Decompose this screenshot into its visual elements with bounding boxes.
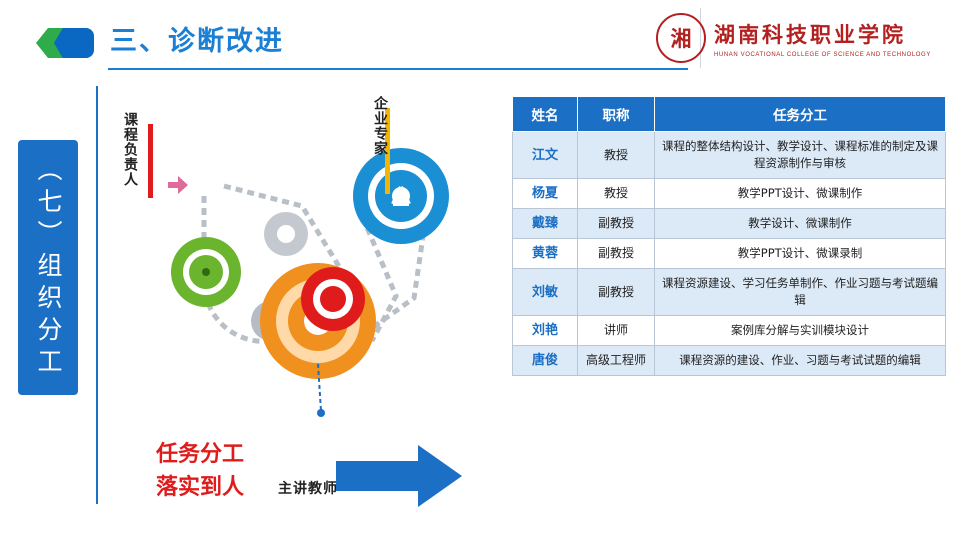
table-row: 杨夏 教授 教学PPT设计、微课制作: [513, 179, 946, 209]
school-name-block: 湖南科技职业学院 HUNAN VOCATIONAL COLLEGE OF SCI…: [714, 19, 931, 58]
task-callout: 任务分工 落实到人: [156, 438, 244, 504]
label-lead-teacher: 主讲教师: [278, 478, 338, 498]
page-header: 三、诊断改进 湘 湖南科技职业学院 HUNAN VOCATIONAL COLLE…: [0, 0, 960, 76]
section-side-label: （七）组织分工: [18, 140, 78, 395]
cell-name: 戴臻: [513, 209, 578, 239]
task-callout-line1: 任务分工: [156, 438, 244, 471]
table-header-title: 职称: [578, 97, 655, 132]
cell-duty: 教学设计、微课制作: [655, 209, 946, 239]
school-name-en: HUNAN VOCATIONAL COLLEGE OF SCIENCE AND …: [714, 52, 931, 58]
school-logo: 湘 湖南科技职业学院 HUNAN VOCATIONAL COLLEGE OF S…: [656, 10, 942, 66]
right-arrow-icon: [332, 441, 468, 511]
cell-title: 讲师: [578, 316, 655, 346]
cell-name: 黄蓉: [513, 239, 578, 269]
label-enterprise-expert: 企业专家: [370, 96, 390, 156]
school-name-cn: 湖南科技职业学院: [714, 19, 931, 49]
gear-blue: [353, 148, 449, 244]
gear-red: [301, 267, 365, 331]
label-course-owner: 课程负责人: [120, 112, 140, 187]
gear-green: [171, 237, 241, 307]
red-accent-bar: [148, 124, 153, 198]
cell-title: 高级工程师: [578, 346, 655, 376]
cell-name: 杨夏: [513, 179, 578, 209]
cell-name: 江文: [513, 132, 578, 179]
cell-name: 唐俊: [513, 346, 578, 376]
gear-illustration-svg: [96, 86, 496, 446]
cell-name: 刘敏: [513, 269, 578, 316]
cell-duty: 课程资源建设、学习任务单制作、作业习题与考试题编辑: [655, 269, 946, 316]
table-header-name: 姓名: [513, 97, 578, 132]
cell-duty: 教学PPT设计、微课制作: [655, 179, 946, 209]
task-callout-line2: 落实到人: [156, 471, 244, 504]
table-row: 刘艳 讲师 案例库分解与实训模块设计: [513, 316, 946, 346]
table-row: 戴臻 副教授 教学设计、微课制作: [513, 209, 946, 239]
school-seal-icon: 湘: [656, 13, 706, 63]
table-row: 江文 教授 课程的整体结构设计、教学设计、课程标准的制定及课程资源制作与审核: [513, 132, 946, 179]
gear-diagram: 课程负责人 企业专家 主讲教师 任务分工 落实到人: [96, 86, 496, 516]
cell-title: 副教授: [578, 239, 655, 269]
cell-title: 教授: [578, 132, 655, 179]
cell-title: 副教授: [578, 269, 655, 316]
green-blue-chevron-logo-icon: [36, 28, 94, 58]
table-row: 刘敏 副教授 课程资源建设、学习任务单制作、作业习题与考试题编辑: [513, 269, 946, 316]
section-side-label-text: （七）组织分工: [30, 156, 66, 380]
cell-duty: 课程的整体结构设计、教学设计、课程标准的制定及课程资源制作与审核: [655, 132, 946, 179]
table-row: 唐俊 高级工程师 课程资源的建设、作业、习题与考试试题的编辑: [513, 346, 946, 376]
table-header-duty: 任务分工: [655, 97, 946, 132]
duty-table: 姓名 职称 任务分工 江文 教授 课程的整体结构设计、教学设计、课程标准的制定及…: [512, 96, 946, 376]
cell-title: 教授: [578, 179, 655, 209]
cell-duty: 教学PPT设计、微课录制: [655, 239, 946, 269]
gear-gray-1: [264, 212, 308, 256]
cell-duty: 案例库分解与实训模块设计: [655, 316, 946, 346]
cell-duty: 课程资源的建设、作业、习题与考试试题的编辑: [655, 346, 946, 376]
cell-name: 刘艳: [513, 316, 578, 346]
header-divider-line: [108, 68, 688, 70]
table-row: 黄蓉 副教授 教学PPT设计、微课录制: [513, 239, 946, 269]
duty-table-container: 姓名 职称 任务分工 江文 教授 课程的整体结构设计、教学设计、课程标准的制定及…: [512, 96, 946, 376]
cell-title: 副教授: [578, 209, 655, 239]
page-title: 三、诊断改进: [110, 19, 284, 58]
table-header-row: 姓名 职称 任务分工: [513, 97, 946, 132]
